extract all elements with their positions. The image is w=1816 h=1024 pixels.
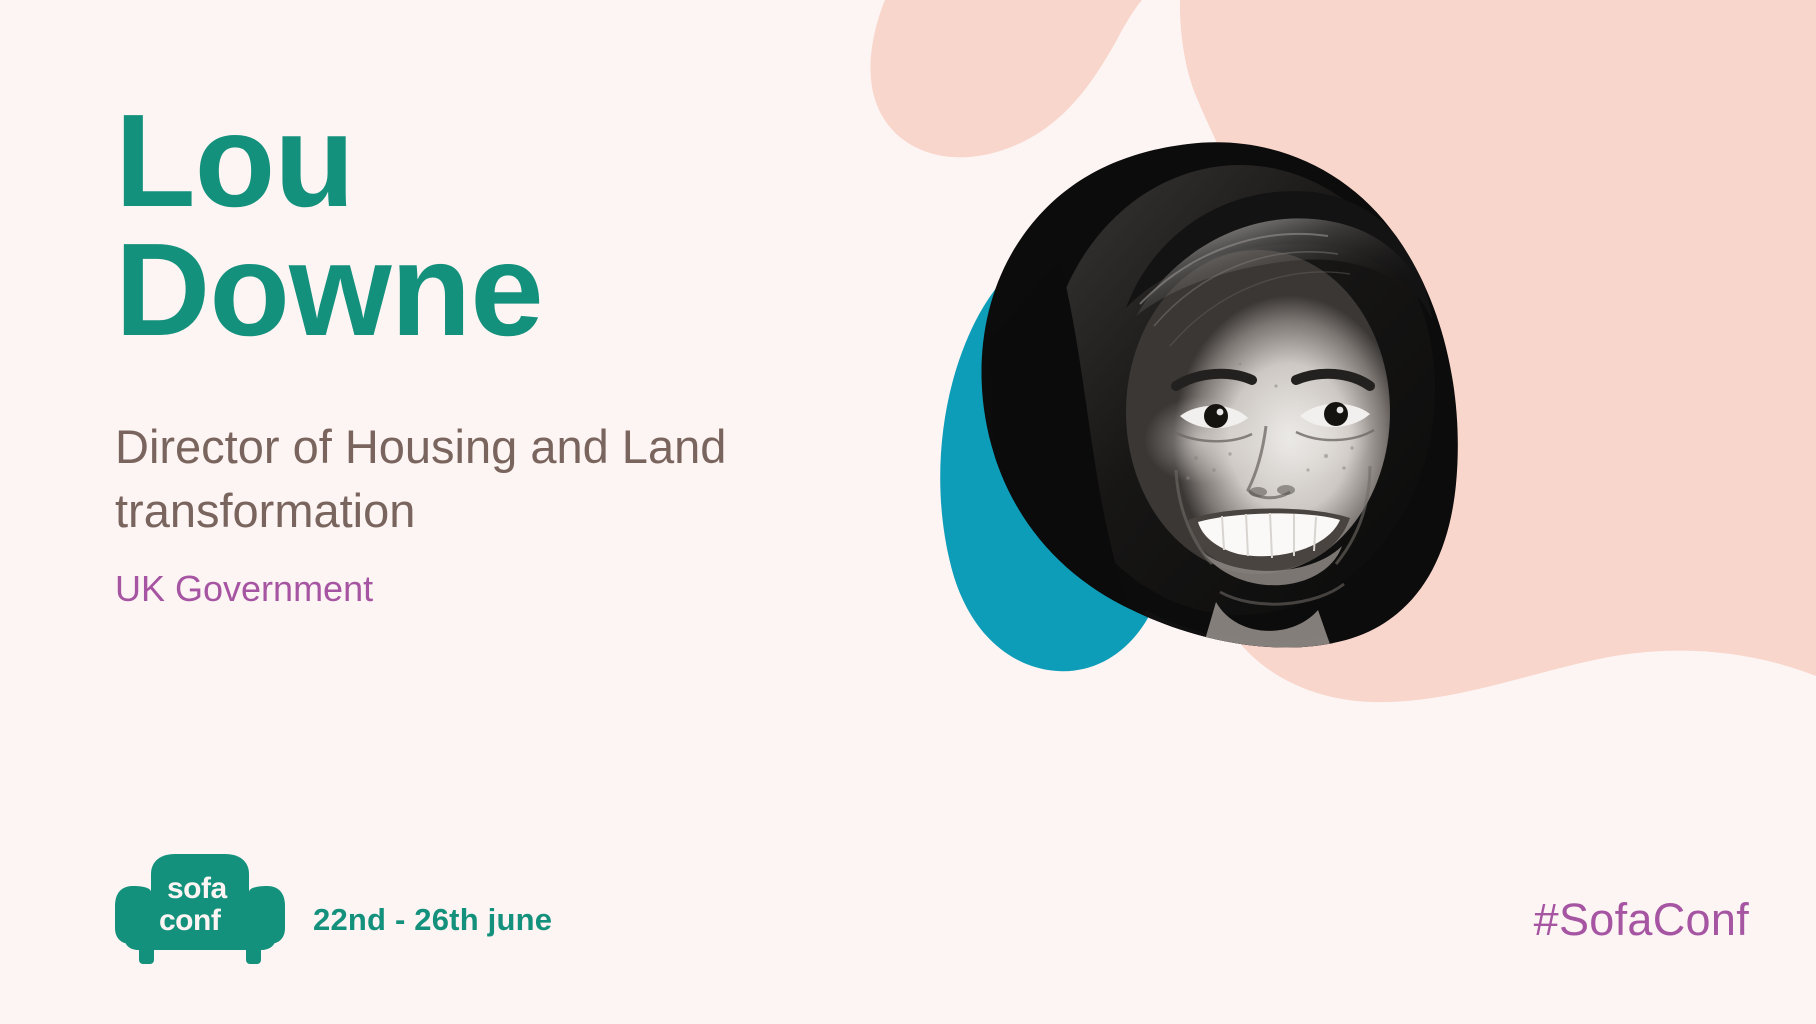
speaker-photo bbox=[940, 140, 1470, 650]
speaker-organisation: UK Government bbox=[115, 567, 905, 610]
sofaconf-logo[interactable]: sofa conf bbox=[115, 852, 285, 962]
speaker-name: Lou Downe bbox=[115, 96, 905, 355]
logo-text-conf: conf bbox=[159, 904, 222, 937]
event-hashtag: #SofaConf bbox=[1534, 894, 1749, 946]
portrait-image bbox=[940, 140, 1470, 650]
event-dates: 22nd - 26th june bbox=[313, 902, 552, 938]
speaker-details: Lou Downe Director of Housing and Land t… bbox=[115, 96, 905, 610]
speaker-role: Director of Housing and Land transformat… bbox=[115, 415, 855, 543]
card-footer: sofa conf 22nd - 26th june #SofaConf bbox=[0, 844, 1816, 1024]
logo-text-sofa: sofa bbox=[167, 872, 228, 905]
speaker-announcement-card: Lou Downe Director of Housing and Land t… bbox=[0, 0, 1816, 1024]
